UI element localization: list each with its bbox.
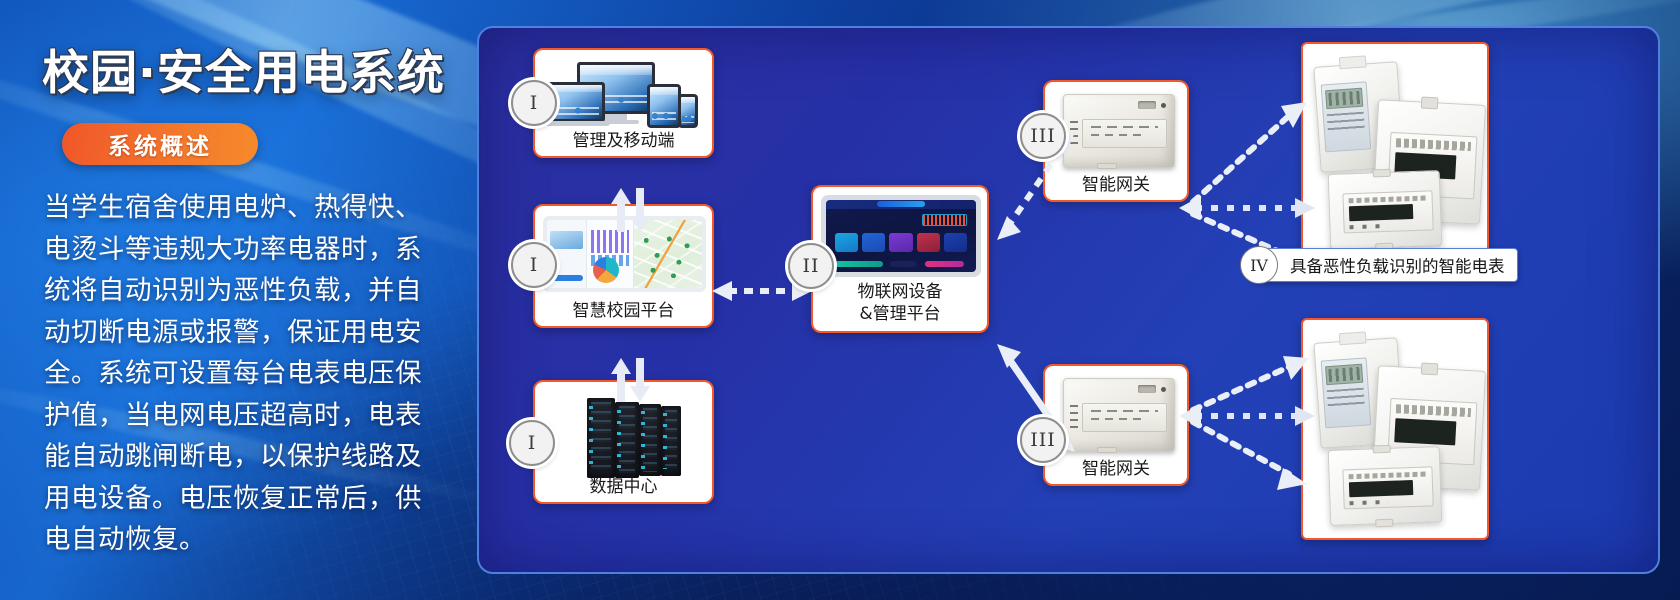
intro-column: 校园·安全用电系统 系统概述 当学生宿舍使用电炉、热得快、电烫斗等违规大功率电器… (0, 0, 470, 600)
node-label-line2: &管理平台 (813, 303, 987, 325)
overview-badge-label: 系统概述 (108, 127, 212, 161)
node-badge-gateway-bottom: III (1020, 417, 1066, 463)
three-phase-meter-icon (1328, 446, 1443, 526)
node-admin-mobile[interactable]: 管理及移动端 (533, 48, 714, 158)
node-badge-gateway-top: III (1020, 113, 1066, 159)
connector-gateway-bottom-to-meters (1179, 348, 1319, 528)
node-badge-iot-platform: II (788, 243, 834, 289)
meter-callout[interactable]: 具备恶性负载识别的智能电表 (1253, 248, 1518, 282)
meter-panel-top-art (1303, 44, 1487, 262)
node-label: 数据中心 (535, 476, 712, 498)
node-iot-platform[interactable]: 物联网设备 &管理平台 (811, 185, 989, 333)
meter-panel-bottom[interactable] (1301, 318, 1489, 540)
node-label: 智慧校园平台 (535, 300, 712, 322)
devices-icon (535, 56, 712, 126)
meter-panel-bottom-art (1303, 320, 1487, 538)
node-badge-admin-mobile: I (511, 80, 557, 126)
meter-panel-top[interactable] (1301, 42, 1489, 264)
node-label: 管理及移动端 (535, 130, 712, 152)
overview-badge: 系统概述 (62, 123, 258, 165)
node-badge-smart-campus: I (511, 242, 557, 288)
page-title: 校园·安全用电系统 (42, 34, 450, 103)
node-badge-data-center: I (509, 420, 555, 466)
connector-admin-to-campus (609, 188, 651, 232)
architecture-diagram-panel: 管理及移动端 I 智慧校园平台 I (477, 26, 1660, 574)
node-label: 物联网设备 &管理平台 (813, 281, 987, 325)
intro-paragraph: 当学生宿舍使用电炉、热得快、电烫斗等违规大功率电器时，系统将自动识别为恶性负载，… (44, 187, 444, 561)
connector-campus-to-datacenter (609, 358, 651, 402)
meter-callout-badge: IV (1240, 246, 1278, 284)
node-label: 智能网关 (1045, 458, 1187, 480)
node-label-line1: 物联网设备 (813, 281, 987, 303)
tablet-dashboard-icon (813, 193, 987, 279)
three-phase-meter-icon (1328, 170, 1443, 250)
connector-gateway-top-to-meters (1179, 90, 1319, 270)
meter-callout-label: 具备恶性负载识别的智能电表 (1290, 253, 1505, 277)
